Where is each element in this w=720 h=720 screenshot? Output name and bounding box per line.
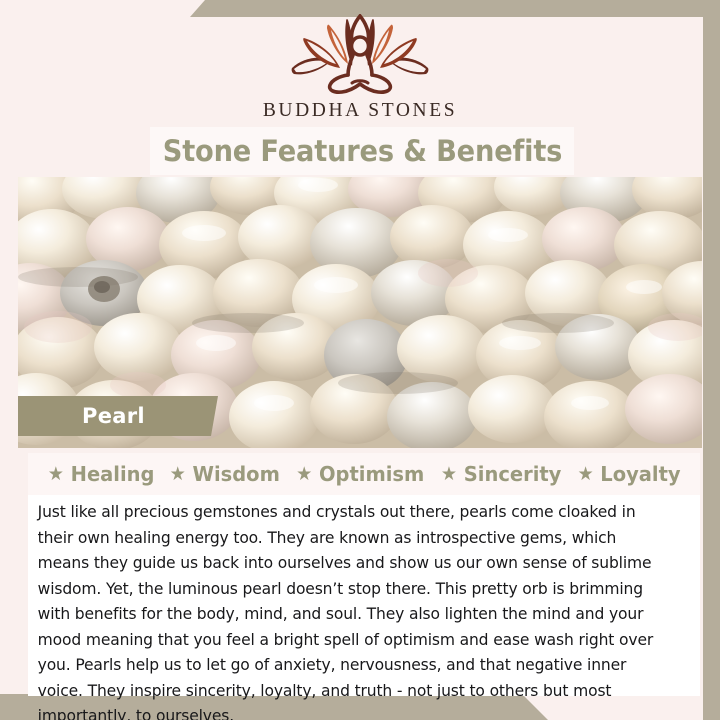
pearl-photo: Pearl [18,177,702,448]
page-title: Stone Features & Benefits [162,134,561,168]
benefits-card: ★ Healing ★ Wisdom ★ Optimism ★ Sincerit… [28,453,700,696]
stone-name-text: Pearl [18,404,145,428]
keyword-label: Wisdom [192,462,279,486]
keyword-sincerity: ★ Sincerity [431,462,561,486]
brand-logo: BUDDHA STONES [0,14,720,122]
keyword-healing: ★ Healing [47,462,154,486]
stone-name-label: Pearl [18,396,218,436]
star-icon: ★ [296,465,312,484]
keyword-list: ★ Healing ★ Wisdom ★ Optimism ★ Sincerit… [28,453,700,495]
star-icon: ★ [47,465,63,484]
keyword-label: Optimism [319,462,424,486]
keyword-wisdom: ★ Wisdom [160,462,280,486]
keyword-label: Healing [70,462,154,486]
keyword-loyalty: ★ Loyalty [568,462,681,486]
keyword-label: Sincerity [464,462,562,486]
keyword-label: Loyalty [600,462,680,486]
brand-name: BUDDHA STONES [0,100,720,122]
page-root: BUDDHA STONES Stone Features & Benefits [0,0,720,720]
star-icon: ★ [441,465,457,484]
star-icon: ★ [577,465,593,484]
keyword-optimism: ★ Optimism [287,462,425,486]
section-title-card: Stone Features & Benefits [150,127,574,175]
description-paragraph: Just like all precious gemstones and cry… [28,495,676,720]
star-icon: ★ [170,465,186,484]
lotus-meditation-icon [0,14,720,96]
